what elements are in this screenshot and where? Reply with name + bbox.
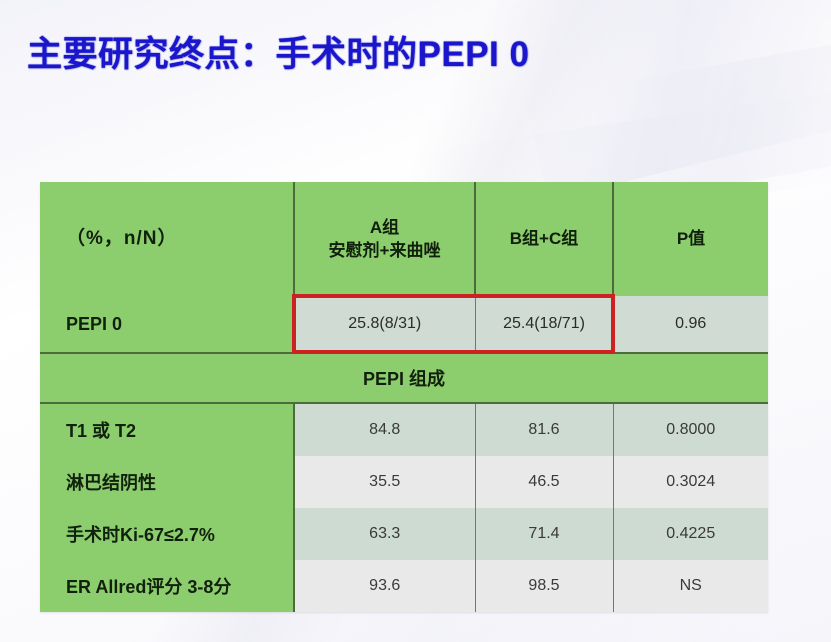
background-sheen xyxy=(501,0,831,201)
slide-canvas: 主要研究终点：手术时的PEPI 0 （%，n/N） A组 安慰剂+来曲唑 B组+… xyxy=(0,0,831,642)
row-label-pepi0: PEPI 0 xyxy=(40,296,294,353)
cell-group-a: 93.6 xyxy=(294,560,475,612)
background-sheen xyxy=(592,35,831,205)
slide-title: 主要研究终点：手术时的PEPI 0 xyxy=(27,26,529,77)
header-group-bc: B组+C组 xyxy=(475,182,613,296)
cell-p-value: 0.4225 xyxy=(613,508,768,560)
table-row: T1 或 T2 84.8 81.6 0.8000 xyxy=(40,403,768,456)
cell-pepi0-group-a: 25.8(8/31) xyxy=(294,296,475,353)
table-row: ER Allred评分 3-8分 93.6 98.5 NS xyxy=(40,560,768,612)
cell-p-value: 0.3024 xyxy=(613,456,768,508)
cell-pepi0-p-value: 0.96 xyxy=(613,296,768,353)
cell-group-bc: 98.5 xyxy=(475,560,613,612)
cell-pepi0-group-bc: 25.4(18/71) xyxy=(475,296,613,353)
cell-group-a: 84.8 xyxy=(294,403,475,456)
header-metric: （%，n/N） xyxy=(40,182,294,296)
cell-group-a: 63.3 xyxy=(294,508,475,560)
table-row-pepi0: PEPI 0 25.8(8/31) 25.4(18/71) 0.96 xyxy=(40,296,768,353)
row-label: 手术时Ki-67≤2.7% xyxy=(40,508,294,560)
header-p-value: P值 xyxy=(613,182,768,296)
results-table: （%，n/N） A组 安慰剂+来曲唑 B组+C组 P值 PEPI 0 25.8(… xyxy=(40,182,768,612)
header-group-a-line2: 安慰剂+来曲唑 xyxy=(295,240,474,261)
cell-group-a: 35.5 xyxy=(294,456,475,508)
table-row: 手术时Ki-67≤2.7% 63.3 71.4 0.4225 xyxy=(40,508,768,560)
cell-group-bc: 46.5 xyxy=(475,456,613,508)
cell-group-bc: 81.6 xyxy=(475,403,613,456)
cell-group-bc: 71.4 xyxy=(475,508,613,560)
header-group-a-line1: A组 xyxy=(370,218,399,237)
cell-p-value: 0.8000 xyxy=(613,403,768,456)
row-label: 淋巴结阴性 xyxy=(40,456,294,508)
cell-p-value: NS xyxy=(613,560,768,612)
table-section-band: PEPI 组成 xyxy=(40,353,768,403)
row-label: T1 或 T2 xyxy=(40,403,294,456)
header-group-a: A组 安慰剂+来曲唑 xyxy=(294,182,475,296)
section-band-label: PEPI 组成 xyxy=(40,353,768,403)
table-row: 淋巴结阴性 35.5 46.5 0.3024 xyxy=(40,456,768,508)
results-table-container: （%，n/N） A组 安慰剂+来曲唑 B组+C组 P值 PEPI 0 25.8(… xyxy=(40,182,768,612)
row-label: ER Allred评分 3-8分 xyxy=(40,560,294,612)
table-header-row: （%，n/N） A组 安慰剂+来曲唑 B组+C组 P值 xyxy=(40,182,768,296)
